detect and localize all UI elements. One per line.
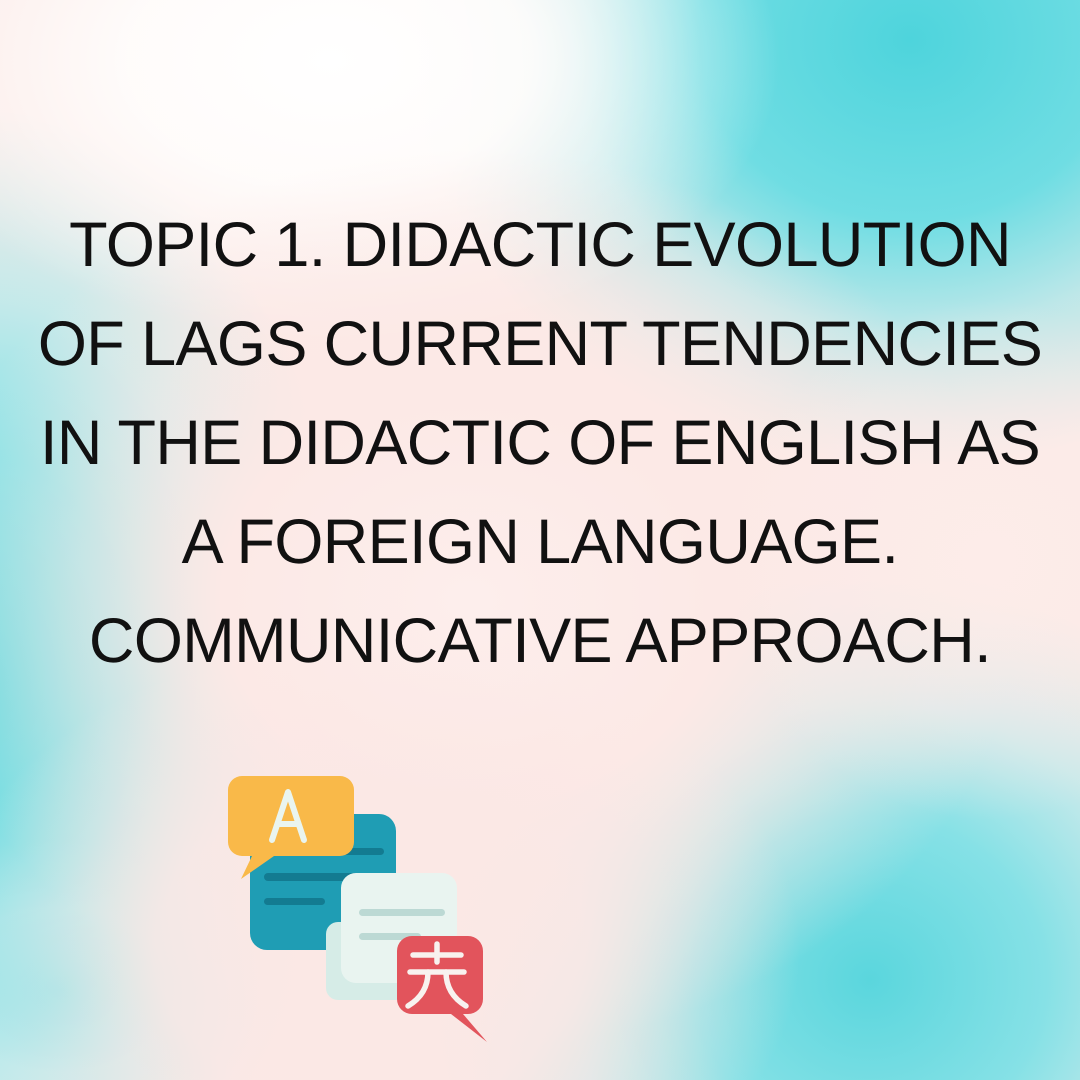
translation-bubbles-illustration	[214, 762, 496, 1044]
red-speech-bubble-cjk-icon	[397, 936, 487, 1042]
slide-headline: TOPIC 1. DIDACTIC EVOLUTION OF LAGS CURR…	[0, 196, 1080, 691]
slide-canvas: TOPIC 1. DIDACTIC EVOLUTION OF LAGS CURR…	[0, 0, 1080, 1080]
